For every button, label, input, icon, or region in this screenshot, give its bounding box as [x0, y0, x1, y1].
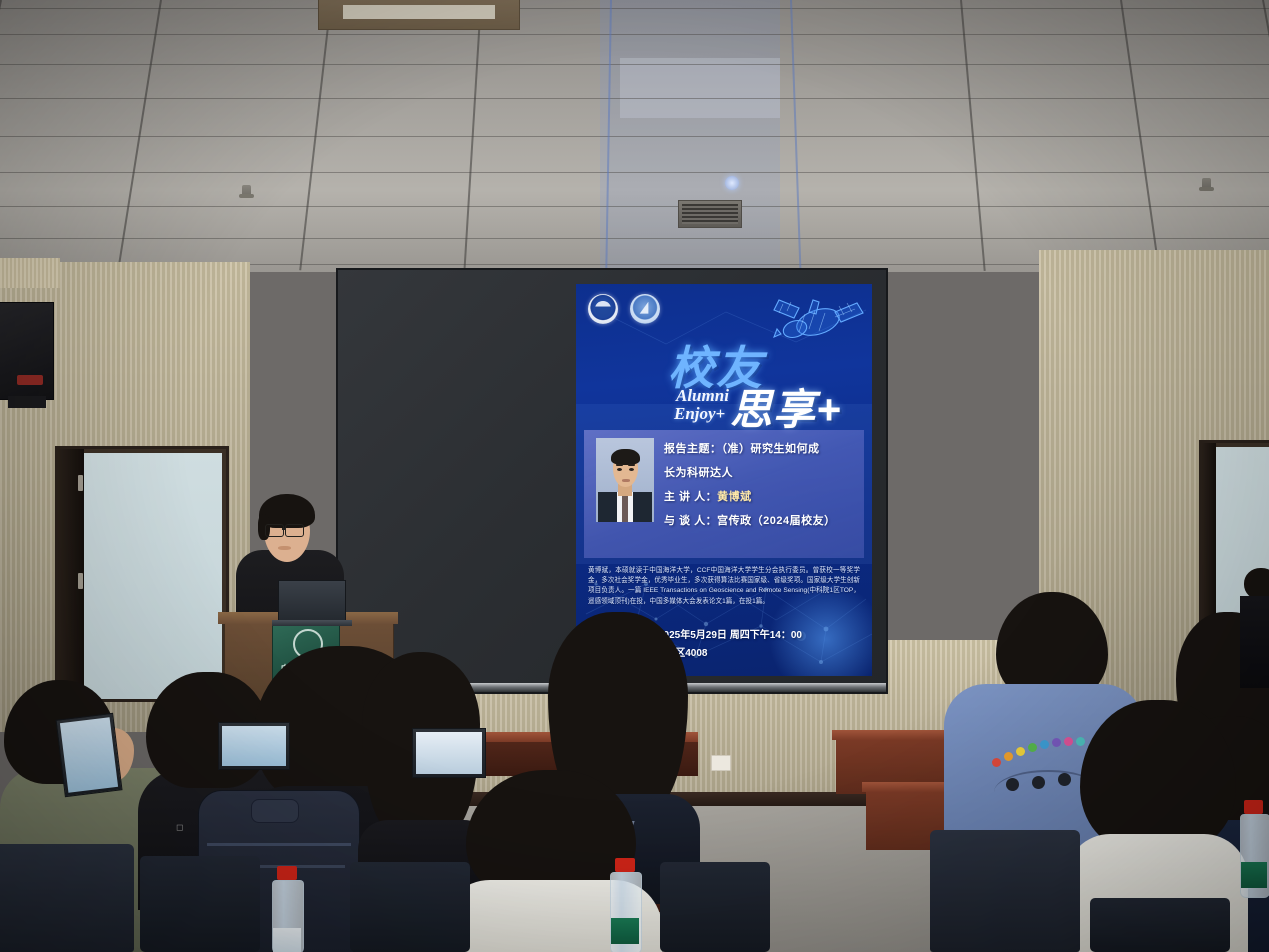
university-emblem-1	[588, 294, 618, 324]
chair	[930, 830, 1080, 952]
slide-title-en-line2: Enjoy+	[674, 404, 725, 424]
slide-title-en-line1: Alumni	[676, 386, 729, 406]
satellite-icon	[761, 292, 865, 354]
presenter-laptop-screen[interactable]	[278, 580, 346, 624]
water-bottle[interactable]	[608, 858, 642, 952]
speaker-mount-bracket	[8, 396, 46, 408]
attendee-standing-right	[1240, 568, 1269, 688]
chair	[140, 856, 260, 952]
slide-topic-line1: 报告主题：（准）研究生如何成	[664, 440, 820, 456]
slide-topic-line2: 长为科研达人	[664, 464, 733, 480]
slide-discussant-line: 与 谈 人：宫传政（2024届校友）	[664, 512, 836, 528]
air-vent	[678, 200, 742, 228]
lecture-hall-photo: 校友 Alumni Enjoy+ 思享+	[0, 0, 1269, 952]
university-emblem-2	[630, 294, 660, 324]
water-bottle[interactable]	[1238, 800, 1269, 896]
chair	[350, 862, 470, 952]
water-bottle[interactable]	[270, 866, 304, 952]
wall-upper-left	[0, 258, 60, 288]
chair	[1090, 898, 1230, 952]
slide-info-card: 报告主题：（准）研究生如何成 长为科研达人 主 讲 人：黄博斌 与 谈 人：宫传…	[584, 430, 864, 558]
glasses-icon	[265, 524, 284, 537]
ceiling-downlight	[725, 176, 739, 190]
chair	[660, 862, 770, 952]
speaker-portrait	[596, 438, 654, 522]
slide-bio-text: 黄博斌，本硕就读于中国海洋大学，CCF中国海洋大学学生分会执行委员。曾获校一等奖…	[588, 566, 860, 607]
door-left[interactable]	[55, 446, 229, 702]
slide-speaker-line: 主 讲 人：黄博斌	[664, 488, 752, 504]
presenter-laptop-base[interactable]	[272, 620, 352, 626]
laptop[interactable]	[412, 728, 486, 778]
ceiling	[0, 0, 1269, 272]
ceiling-light-fixture	[318, 0, 520, 30]
laptop[interactable]	[218, 722, 290, 770]
wall-speaker	[0, 302, 54, 400]
chair	[0, 844, 134, 952]
wall-outlet[interactable]	[711, 755, 731, 771]
sprinkler-icon	[242, 185, 251, 198]
laptop[interactable]	[55, 713, 122, 797]
sprinkler-icon	[1202, 178, 1211, 191]
slide-title-cn-bottom: 思享+	[730, 376, 842, 437]
glasses-icon	[285, 524, 304, 537]
